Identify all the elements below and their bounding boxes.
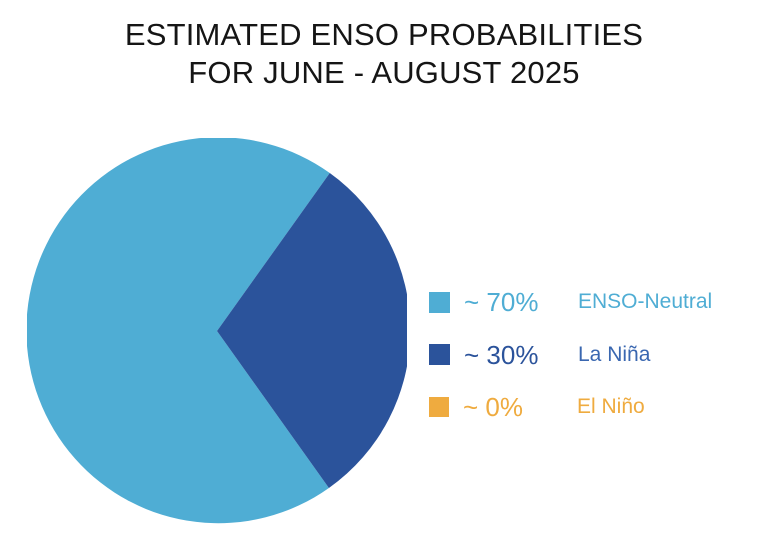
legend-item-enso-neutral[interactable]: ~ 70% ENSO-Neutral [429,276,759,328]
color-swatch-icon [429,344,450,365]
page-title-line-2: FOR JUNE - AUGUST 2025 [0,54,768,92]
legend-value-enso-neutral: ~ 70% [464,287,576,317]
pie-chart [27,138,407,524]
color-swatch-icon [429,397,449,417]
legend-value-la-nina: ~ 30% [464,340,576,370]
legend-value-el-nino: ~ 0% [463,392,575,422]
legend-item-el-nino[interactable]: ~ 0% El Niño [429,381,759,433]
legend-label-la-nina: La Niña [578,342,650,368]
enso-probability-chart-page: ESTIMATED ENSO PROBABILITIES FOR JUNE - … [0,0,768,543]
legend-label-el-nino: El Niño [577,394,645,420]
page-title-line-1: ESTIMATED ENSO PROBABILITIES [0,16,768,54]
chart-legend: ~ 70% ENSO-Neutral ~ 30% La Niña ~ 0% El… [429,276,759,433]
legend-item-la-nina[interactable]: ~ 30% La Niña [429,328,759,381]
page-title: ESTIMATED ENSO PROBABILITIES FOR JUNE - … [0,16,768,92]
legend-label-enso-neutral: ENSO-Neutral [578,289,712,315]
color-swatch-icon [429,292,450,313]
